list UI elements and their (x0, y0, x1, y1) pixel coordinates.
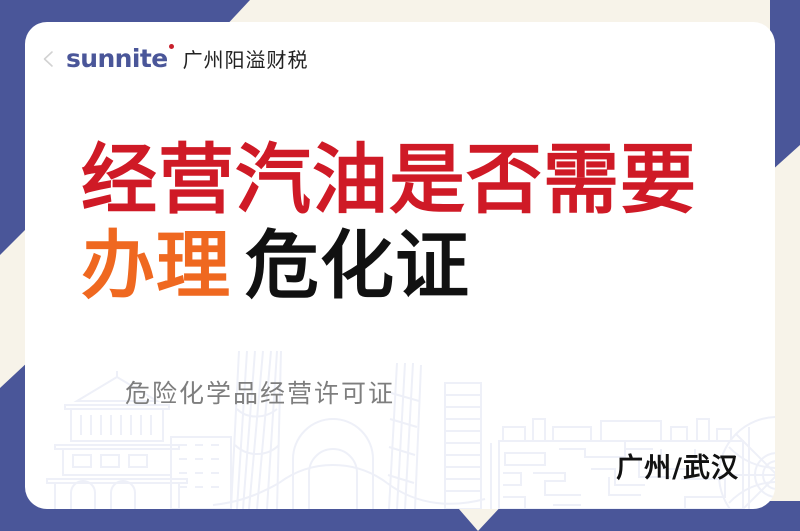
back-chevron-icon[interactable] (39, 50, 57, 68)
headline-line-1: 经营汽油是否需要 (81, 140, 697, 220)
skyline-ladder-tower (445, 383, 481, 509)
headline-line-2: 办理危化证 (81, 228, 697, 306)
skyline-arch-bridge (213, 419, 485, 509)
sunnite-logo: sunnite (66, 46, 175, 72)
content-card: sunnite 广州阳溢财税 经营汽油是否需要 办理危化证 危险化学品经营许可证… (25, 22, 775, 509)
skyline-block (171, 437, 231, 509)
logo-wordmark: sunnite (66, 44, 168, 73)
headline-block: 经营汽油是否需要 办理危化证 (81, 140, 697, 305)
logo-dot-icon (169, 44, 174, 49)
subtitle-text: 危险化学品经营许可证 (125, 374, 395, 410)
poster-canvas: sunnite 广州阳溢财税 经营汽油是否需要 办理危化证 危险化学品经营许可证… (0, 0, 800, 531)
header-bar: sunnite 广州阳溢财税 (39, 44, 309, 73)
city-tag: 广州/武汉 (616, 446, 739, 485)
city-skyline-illustration (25, 349, 775, 509)
headline-keyword: 危化证 (245, 223, 470, 309)
company-name: 广州阳溢财税 (183, 44, 309, 73)
headline-emphasis: 办理 (81, 223, 231, 309)
brand-lockup[interactable]: sunnite 广州阳溢财税 (66, 44, 309, 73)
